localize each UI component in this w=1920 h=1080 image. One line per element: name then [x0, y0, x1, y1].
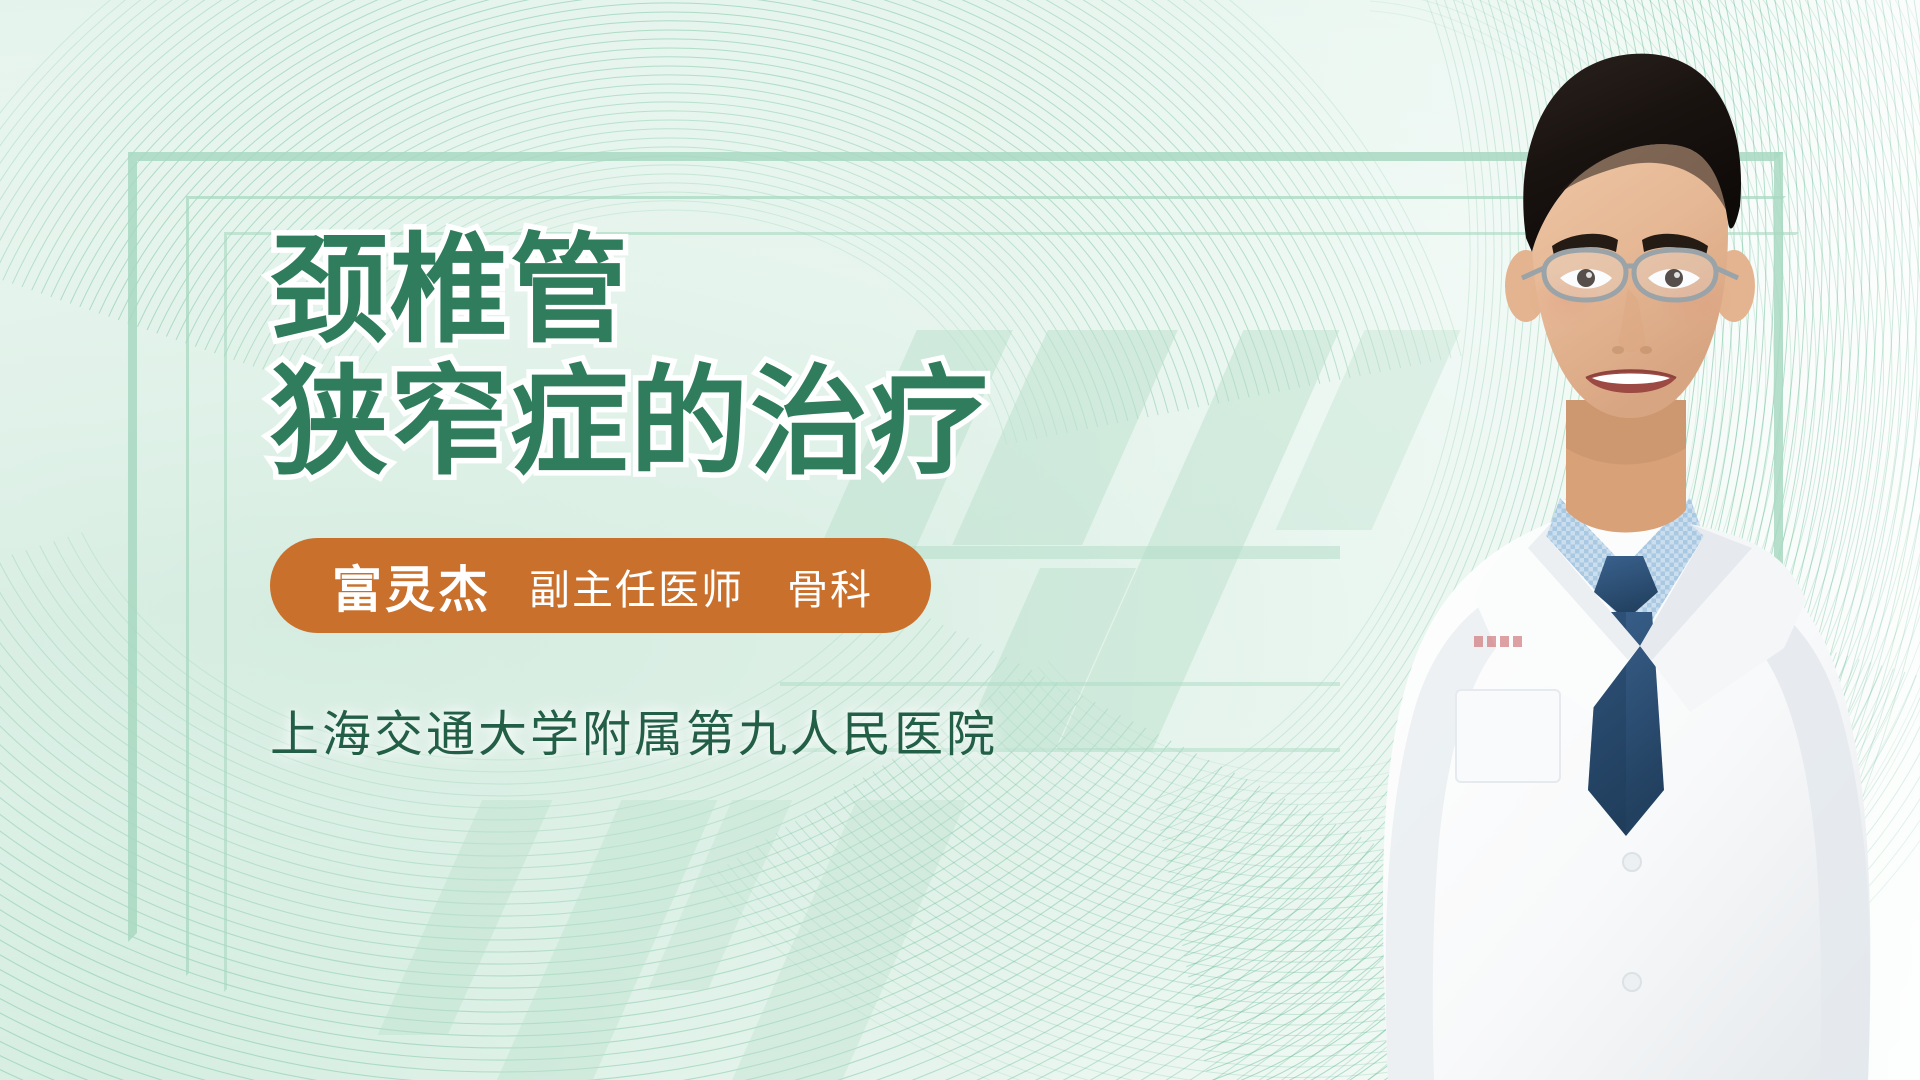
doctor-hair [1523, 54, 1741, 252]
doctor-eyes [1560, 269, 1700, 289]
doctor-necktie [1588, 556, 1664, 836]
doctor-mouth [1586, 371, 1676, 394]
decor-frame-outer-right-edge [1774, 152, 1783, 942]
title-line-1: 颈椎管 [270, 222, 1330, 360]
title-line-2: 狭窄症的治疗 [270, 354, 1330, 492]
doctor-title-department: 副主任医师 骨科 [529, 556, 873, 616]
doctor-coat-buttons [1623, 853, 1641, 991]
doctor-shirt [1546, 498, 1704, 640]
doctor-portrait [1260, 0, 1920, 1080]
doctor-coat [1383, 500, 1870, 1080]
decor-diagonal-band [378, 800, 553, 1035]
decor-arc-bundle-mid-right [1320, 40, 1920, 660]
decor-diagonal-band [648, 800, 793, 990]
decor-diagonal-band [475, 800, 718, 1080]
doctor-chest-pocket [1456, 636, 1560, 782]
decor-frame-right-stub [1654, 640, 1663, 1080]
doctor-eyebrows [1552, 234, 1708, 256]
coat-embroidery-icon [1474, 636, 1522, 647]
doctor-face [1526, 76, 1734, 418]
doctor-coat-lapels [1474, 522, 1806, 712]
text-content-block: 颈椎管 狭窄症的治疗 富灵杰 副主任医师 骨科 上海交通大学附属第九人民医院 [270, 222, 1330, 766]
doctor-nose [1612, 288, 1652, 354]
thumbnail-canvas: 颈椎管 狭窄症的治疗 富灵杰 副主任医师 骨科 上海交通大学附属第九人民医院 [0, 0, 1920, 1080]
doctor-credential-badge: 富灵杰 副主任医师 骨科 [270, 538, 931, 633]
hospital-name: 上海交通大学附属第九人民医院 [270, 695, 1330, 766]
doctor-glasses [1522, 250, 1738, 300]
decor-diagonal-band [723, 800, 967, 1080]
doctor-neck [1566, 400, 1686, 533]
doctor-name: 富灵杰 [332, 550, 491, 622]
doctor-ears [1505, 250, 1755, 322]
